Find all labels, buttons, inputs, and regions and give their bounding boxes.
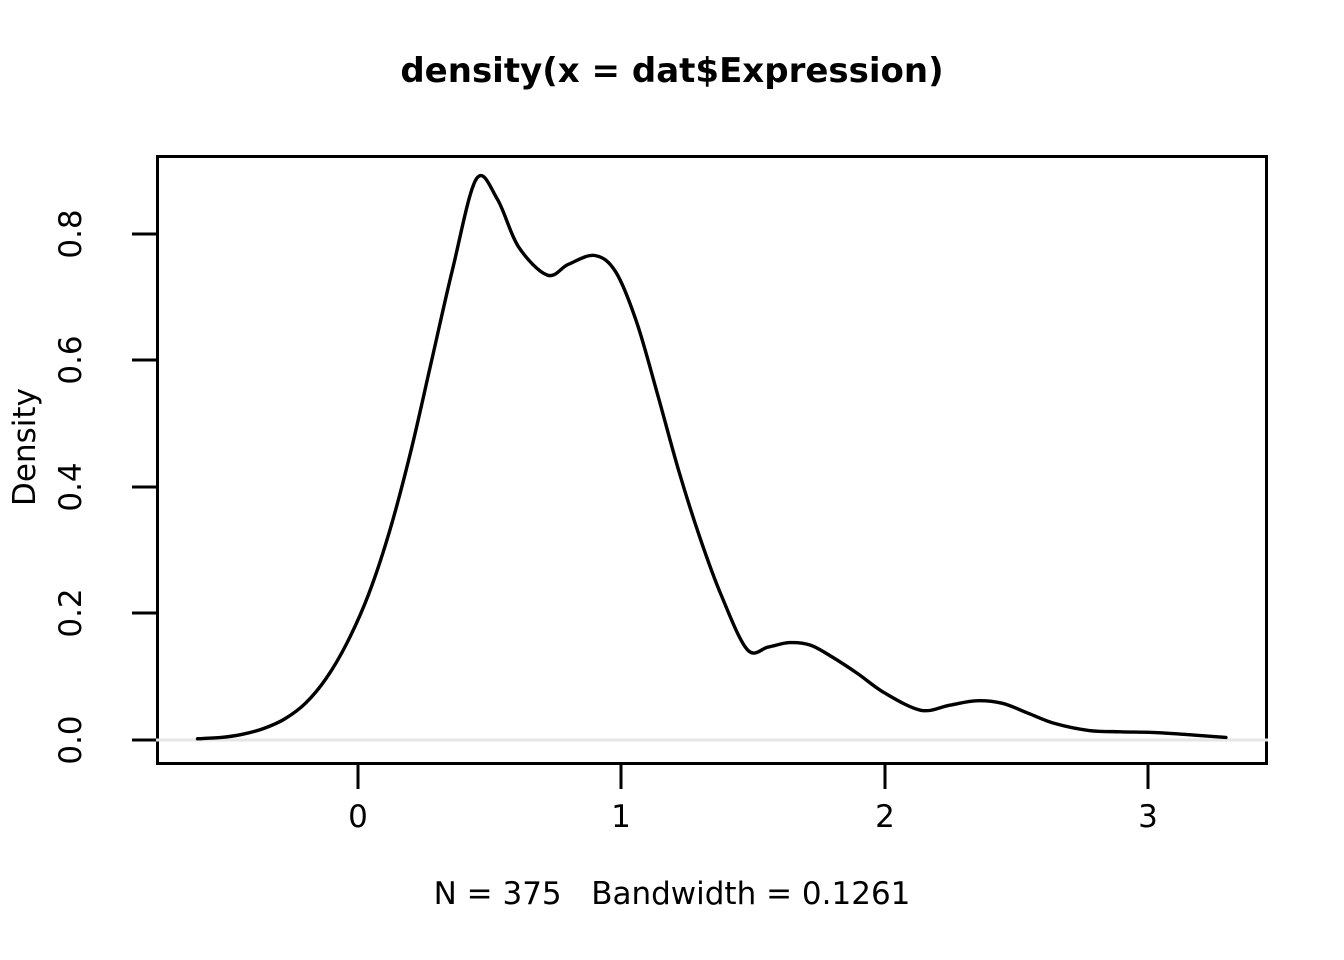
y-tick-label-1: 0.2 [54,568,88,658]
page-title: density(x = dat$Expression) [0,50,1344,92]
y-tick-label-4: 0.8 [54,189,88,279]
x-axis-ticks [358,765,1148,789]
y-tick-label-2: 0.4 [54,442,88,532]
x-tick-label-2: 2 [855,800,915,834]
x-tick-label-3: 3 [1118,800,1178,834]
plot-region-box [156,155,1268,765]
x-axis-label: N = 375 Bandwidth = 0.1261 [0,874,1344,914]
y-tick-label-0: 0.0 [54,695,88,785]
density-plot-figure: density(x = dat$Expression) Density 0.0 … [0,0,1344,960]
y-tick-label-3: 0.6 [54,315,88,405]
y-axis-ticks [132,234,156,740]
x-tick-label-0: 0 [328,800,388,834]
y-axis-label: Density [8,387,42,507]
x-tick-label-1: 1 [591,800,651,834]
